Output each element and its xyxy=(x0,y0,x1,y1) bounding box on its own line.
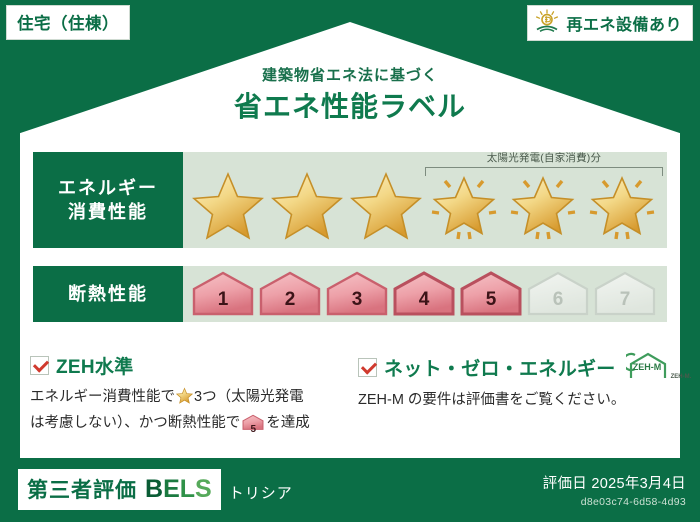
renewable-badge-label: 再エネ設備あり xyxy=(566,11,682,35)
bels-logo: BELS xyxy=(145,475,212,504)
energy-consumption-label: エネルギー 消費性能 xyxy=(33,152,183,248)
energy-label-line-1: エネルギー xyxy=(58,176,158,200)
insulation-level-badge: 5 xyxy=(459,271,523,317)
insulation-level-value: 3 xyxy=(352,289,363,317)
net-zero-energy-description: ZEH-M の要件は評価書をご覧ください。 xyxy=(358,389,668,412)
check-icon xyxy=(30,356,49,375)
label-title: 省エネ性能ラベル xyxy=(0,85,700,125)
insulation-level-value: 5 xyxy=(486,289,497,317)
insulation-level-group: 1 2 3 4 xyxy=(183,266,667,322)
insulation-level-badge: 6 xyxy=(526,271,590,317)
bels-letter: E xyxy=(163,475,180,503)
energy-performance-label: 住宅（住棟） 再エネ設備あり 建築物省エネ法に基づく 省エネ性能ラベル xyxy=(0,0,700,522)
label-subtitle: 建築物省エネ法に基づく xyxy=(0,64,700,85)
insulation-level-value: 6 xyxy=(553,289,564,317)
energy-label-line-2: 消費性能 xyxy=(68,200,148,224)
zeh-desc-part-1: エネルギー消費性能で xyxy=(30,389,175,405)
zeh-m-logo-icon: ZEH-M ZEH-M. xyxy=(626,352,692,382)
star-icon-solar xyxy=(428,168,500,242)
star-icon-inline xyxy=(176,387,193,412)
insulation-rating-area: 1 2 3 4 xyxy=(183,266,667,322)
insulation-level-value: 1 xyxy=(218,289,229,317)
evaluation-date: 評価日 2025年3月4日 xyxy=(543,472,686,493)
energy-rating-area: 太陽光発電(自家消費)分 xyxy=(183,152,667,248)
insulation-performance-label: 断熱性能 xyxy=(33,266,183,322)
svg-text:ZEH-M: ZEH-M xyxy=(632,362,661,372)
zeh-standard-block: ZEH水準 エネルギー消費性能で 3つ（太陽光発電 は考慮しない）、かつ断熱性能… xyxy=(30,352,350,439)
energy-star-group xyxy=(183,168,667,242)
star-icon xyxy=(350,168,422,242)
zeh-standard-title: ZEH水準 xyxy=(56,352,134,379)
insulation-performance-row: 断熱性能 xyxy=(33,266,667,322)
energy-consumption-row: エネルギー 消費性能 太陽光発電(自家消費)分 xyxy=(33,152,667,248)
zeh-standard-header: ZEH水準 xyxy=(30,352,350,379)
star-icon xyxy=(192,168,264,242)
solar-annotation-text: 太陽光発電(自家消費)分 xyxy=(425,150,663,165)
building-type-text: 住宅（住棟） xyxy=(17,15,119,33)
insulation-level-badge: 4 xyxy=(392,271,456,317)
insulation-level-badge: 7 xyxy=(593,271,657,317)
building-type-tag: 住宅（住棟） xyxy=(6,5,130,40)
insulation-level-value: 7 xyxy=(620,289,631,317)
insulation-level-value: 2 xyxy=(285,289,296,317)
bels-letter: B xyxy=(145,475,163,503)
footer-certification-plate: 第三者評価 BELS トリシア xyxy=(18,469,221,510)
evaluation-uid: d8e03c74-6d58-4d93 xyxy=(543,496,686,508)
star-icon xyxy=(271,168,343,242)
zeh-desc-part-2: は考慮しない）、かつ断熱性能で xyxy=(30,415,240,431)
renewable-equipment-badge: 再エネ設備あり xyxy=(527,5,693,41)
net-zero-energy-header: ネット・ゼロ・エネルギー ZEH-M ZEH-M. xyxy=(358,352,668,382)
star-icon-solar xyxy=(507,168,579,242)
insulation-level-badge: 2 xyxy=(258,271,322,317)
zeh-standard-description: エネルギー消費性能で 3つ（太陽光発電 は考慮しない）、かつ断熱性能で 5 を達… xyxy=(30,386,350,439)
bels-letter: S xyxy=(195,475,212,503)
solar-sun-icon xyxy=(534,9,560,38)
insulation-level-badge: 1 xyxy=(191,271,255,317)
insulation-level-badge: 3 xyxy=(325,271,389,317)
third-party-evaluation-label: 第三者評価 xyxy=(27,474,137,504)
zeh-m-logo-subtext: ZEH-M. xyxy=(671,374,692,380)
bels-letter: L xyxy=(180,475,195,503)
footer-evaluation-meta: 評価日 2025年3月4日 d8e03c74-6d58-4d93 xyxy=(543,472,686,508)
insulation-level-value: 4 xyxy=(419,289,430,317)
net-zero-energy-title: ネット・ゼロ・エネルギー xyxy=(384,354,616,381)
insulation-badge-inline-value: 5 xyxy=(242,414,264,439)
zeh-desc-part-3: を達成 xyxy=(266,415,310,431)
net-zero-energy-block: ネット・ゼロ・エネルギー ZEH-M ZEH-M. ZEH-M の要件は評価書を… xyxy=(358,352,668,412)
brand-name: トリシア xyxy=(229,482,293,503)
zeh-desc-star-count: 3つ（太陽光発電 xyxy=(194,389,304,405)
check-icon xyxy=(358,358,377,377)
insulation-badge-inline: 5 xyxy=(242,414,264,439)
insulation-label-text: 断熱性能 xyxy=(68,282,148,306)
star-icon-solar xyxy=(586,168,658,242)
